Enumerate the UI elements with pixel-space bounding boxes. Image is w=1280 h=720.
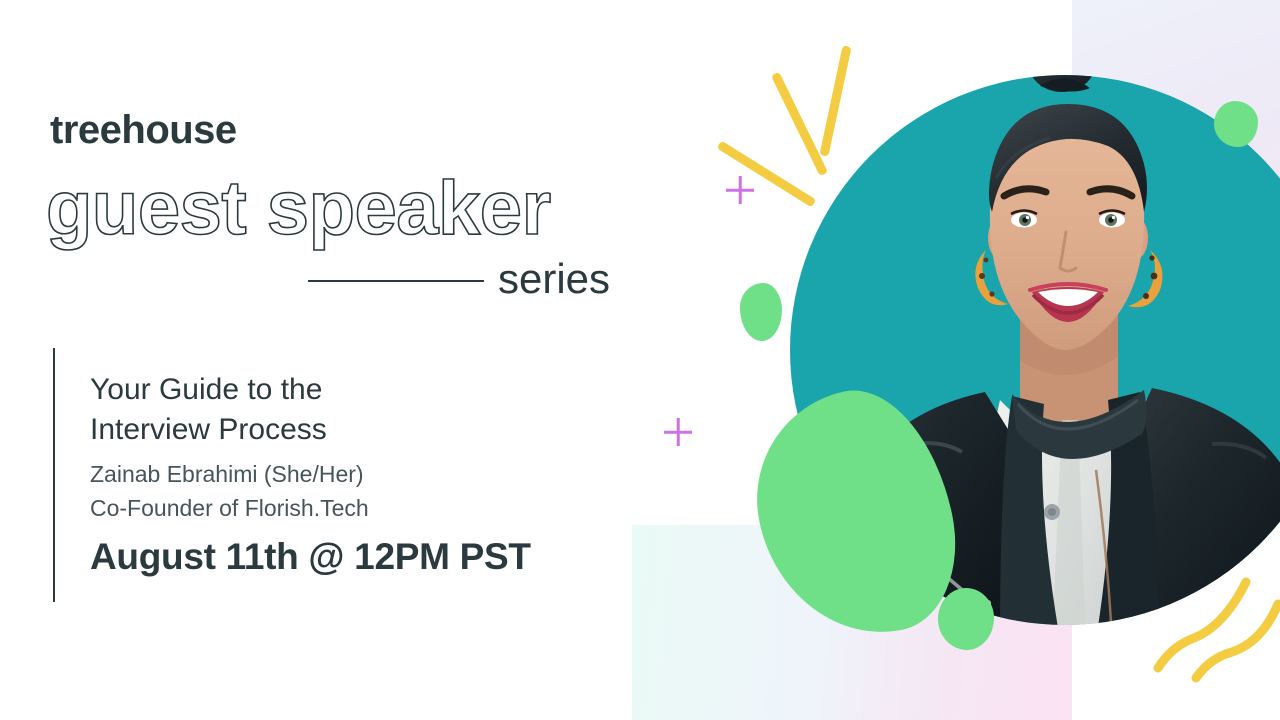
text-column: treehouse guest speaker series Your Guid…	[0, 0, 660, 720]
series-headline: guest speaker	[46, 165, 551, 252]
magenta-plus-icon	[726, 176, 754, 204]
green-blob-decoration	[1214, 101, 1258, 147]
speaker-role: Co-Founder of Florish.Tech	[90, 495, 369, 522]
green-blob-decoration	[740, 283, 782, 341]
promo-slide: treehouse guest speaker series Your Guid…	[0, 0, 1280, 720]
series-label: series	[498, 255, 610, 303]
yellow-swoosh-strokes	[1150, 560, 1280, 690]
talk-title: Your Guide to the Interview Process	[90, 370, 327, 450]
vertical-divider-rule	[53, 348, 55, 602]
event-datetime: August 11th @ 12PM PST	[90, 536, 531, 578]
speaker-name: Zainab Ebrahimi (She/Her)	[90, 461, 364, 488]
brand-wordmark: treehouse	[50, 108, 237, 153]
magenta-plus-icon	[664, 418, 692, 446]
series-divider-rule	[308, 280, 484, 282]
green-blob-decoration	[938, 588, 994, 650]
